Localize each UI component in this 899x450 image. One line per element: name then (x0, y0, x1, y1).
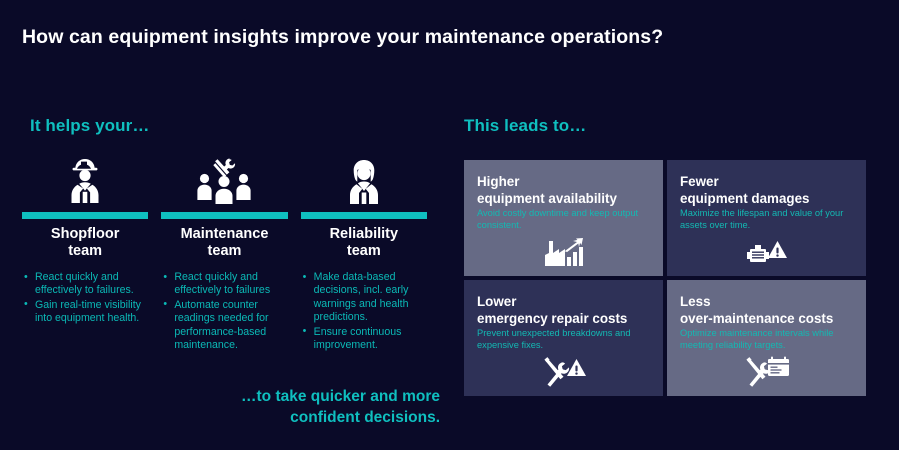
list-item: Automate counter readings needed for per… (161, 299, 287, 353)
team-name-reliability: Reliability team (330, 226, 399, 260)
team-name-line1: Maintenance (181, 226, 269, 242)
outcome-card-less-over-maintenance-costs[interactable]: Less over-maintenance costs Optimize mai… (667, 280, 866, 396)
team-column-reliability: Reliability team Make data-based decisio… (301, 148, 427, 353)
team-column-maintenance: Maintenance team React quickly and effec… (161, 148, 287, 353)
team-divider-bar (22, 212, 148, 219)
card-title: Lower emergency repair costs (477, 294, 650, 327)
left-section-heading: It helps your… (30, 116, 149, 136)
outcome-card-grid: Higher equipment availability Avoid cost… (464, 160, 866, 396)
outcome-card-higher-equipment-availability[interactable]: Higher equipment availability Avoid cost… (464, 160, 663, 276)
team-bullets-shopfloor: React quickly and effectively to failure… (22, 271, 148, 327)
team-name-line1: Shopfloor (51, 226, 119, 242)
worker-hardhat-icon (62, 148, 108, 206)
card-title-line2: over-maintenance costs (680, 311, 833, 326)
factory-growth-chart-icon (464, 237, 663, 267)
card-title-line1: Higher (477, 174, 519, 189)
card-title-line1: Fewer (680, 174, 719, 189)
team-divider-bar (161, 212, 287, 219)
machine-warning-icon (667, 237, 866, 267)
team-name-line2: team (347, 243, 381, 259)
right-panel: This leads to… Higher equipment availabi… (455, 108, 899, 450)
team-bullets-maintenance: React quickly and effectively to failure… (161, 271, 287, 353)
list-item: Make data-based decisions, incl. early w… (301, 271, 427, 325)
card-subtitle: Maximize the lifespan and value of your … (680, 208, 853, 231)
card-subtitle: Optimize maintenance intervals while mee… (680, 328, 853, 351)
outcome-card-fewer-equipment-damages[interactable]: Fewer equipment damages Maximize the lif… (667, 160, 866, 276)
card-title: Fewer equipment damages (680, 174, 853, 207)
tagline-line1: …to take quicker and more (241, 388, 440, 405)
outcome-card-lower-emergency-repair-costs[interactable]: Lower emergency repair costs Prevent une… (464, 280, 663, 396)
card-subtitle: Prevent unexpected breakdowns and expens… (477, 328, 650, 351)
card-title-line1: Lower (477, 294, 516, 309)
team-name-line2: team (208, 243, 242, 259)
tools-warning-icon (464, 355, 663, 387)
card-title-line2: emergency repair costs (477, 311, 627, 326)
left-tagline: …to take quicker and more confident deci… (22, 386, 440, 428)
list-item: React quickly and effectively to failure… (161, 271, 287, 298)
team-divider-bar (301, 212, 427, 219)
page-title: How can equipment insights improve your … (22, 26, 663, 49)
card-title: Higher equipment availability (477, 174, 650, 207)
card-title-line2: equipment availability (477, 191, 617, 206)
card-title-line1: Less (680, 294, 711, 309)
card-title-line2: equipment damages (680, 191, 809, 206)
list-item: Gain real-time visibility into equipment… (22, 299, 148, 326)
team-name-line1: Reliability (330, 226, 399, 242)
left-panel: It helps your… Shopfloor team React quic… (0, 108, 455, 450)
right-section-heading: This leads to… (464, 116, 586, 136)
tools-calendar-icon (667, 355, 866, 387)
team-column-shopfloor: Shopfloor team React quickly and effecti… (22, 148, 148, 353)
list-item: Ensure continuous improvement. (301, 326, 427, 353)
teams-row: Shopfloor team React quickly and effecti… (22, 148, 440, 353)
team-bullets-reliability: Make data-based decisions, incl. early w… (301, 271, 427, 353)
team-name-line2: team (68, 243, 102, 259)
card-subtitle: Avoid costly downtime and keep output co… (477, 208, 650, 231)
team-name-maintenance: Maintenance team (181, 226, 269, 260)
tagline-line2: confident decisions. (290, 409, 440, 426)
list-item: React quickly and effectively to failure… (22, 271, 148, 298)
card-title: Less over-maintenance costs (680, 294, 853, 327)
team-name-shopfloor: Shopfloor team (51, 226, 119, 260)
maintenance-team-tools-icon (195, 148, 253, 206)
reliability-engineer-icon (342, 148, 386, 206)
